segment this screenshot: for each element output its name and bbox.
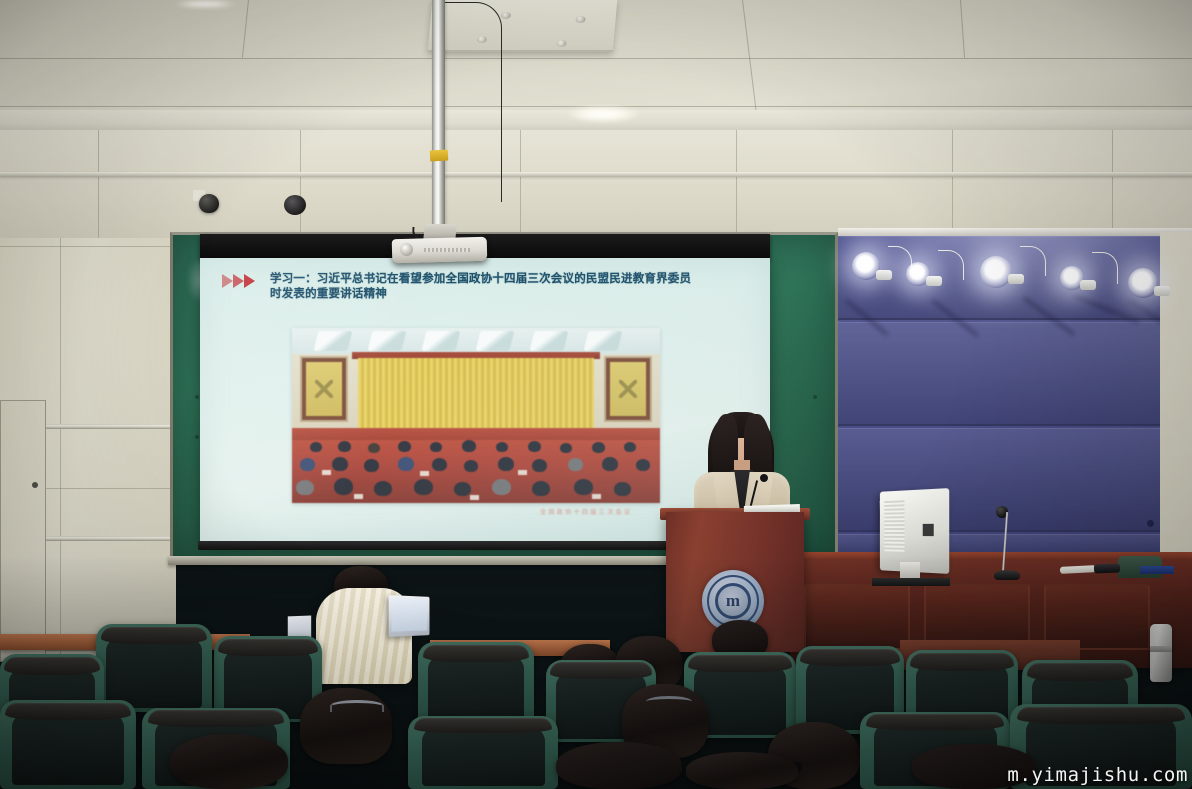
projection-screen: 学习一：习近平总书记在看望参加全国政协十四届三次会议的民盟民进教育界委员 时发表… xyxy=(200,258,770,543)
projector-cable xyxy=(444,2,502,202)
site-watermark: m.yimajishu.com xyxy=(1007,764,1188,786)
slide-title-line-2: 时发表的重要讲话精神 xyxy=(270,287,691,302)
hair-band-icon xyxy=(646,696,692,707)
lecture-hall-photo: 学习一：习近平总书记在看望参加全国政协十四届三次会议的民盟民进教育界委员 时发表… xyxy=(0,0,1192,789)
ceiling-downlight-icon xyxy=(568,106,638,122)
slide-title: 学习一：习近平总书记在看望参加全国政协十四届三次会议的民盟民进教育界委员 时发表… xyxy=(270,272,691,302)
projector-vent xyxy=(424,248,470,252)
wall-outlet-icon xyxy=(1147,520,1154,527)
audience-head xyxy=(300,688,392,764)
right-wall-edge xyxy=(1160,232,1192,562)
audience-head xyxy=(556,742,682,789)
ceiling-downlight-icon xyxy=(175,0,235,8)
projector-lens-icon xyxy=(400,243,413,256)
door-knob-icon[interactable] xyxy=(32,482,38,488)
slide-footer-caption: 全国政协十四届三次会议 xyxy=(540,507,632,516)
projector-mount-pole xyxy=(432,0,445,242)
security-camera-icon xyxy=(282,193,308,216)
podium-microphone-head-icon xyxy=(760,474,768,482)
audience-head xyxy=(170,734,288,789)
auditorium-seat[interactable] xyxy=(96,624,212,712)
slide-title-line-1: 学习一：习近平总书记在看望参加全国政协十四届三次会议的民盟民进教育界委员 xyxy=(270,272,691,287)
hair-band-icon xyxy=(330,700,384,712)
open-laptop[interactable] xyxy=(389,595,430,637)
slide-photo-meeting-hall xyxy=(292,328,660,503)
security-camera-icon xyxy=(193,190,219,214)
double-chevron-icon xyxy=(222,274,262,288)
audience-head xyxy=(686,752,798,789)
wall-trim-rail xyxy=(0,172,1192,177)
auditorium-seat[interactable] xyxy=(0,700,136,789)
auditorium-seat[interactable] xyxy=(408,716,558,789)
slide-header: 学习一：习近平总书记在看望参加全国政协十四届三次会议的民盟民进教育界委员 时发表… xyxy=(222,272,760,302)
upper-wall xyxy=(0,130,1192,240)
pole-tape-marker xyxy=(430,150,449,162)
